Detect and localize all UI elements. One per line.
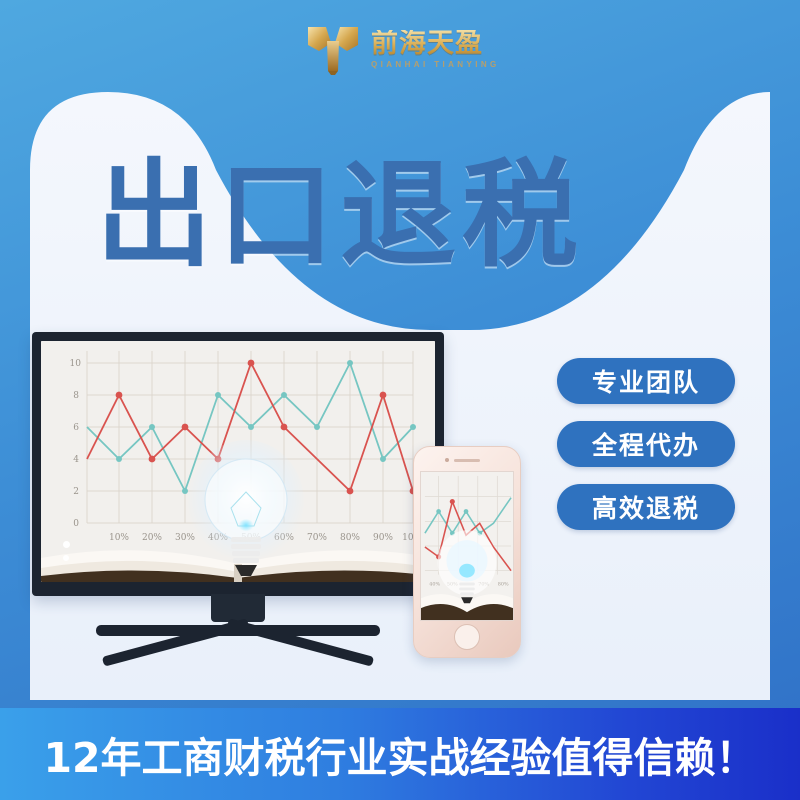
feature-pill-efficient-refund[interactable]: 高效退税	[557, 484, 735, 530]
logo-pinyin: QIANHAI TIANYING	[371, 61, 500, 69]
monitor-neck	[211, 594, 265, 622]
desktop-monitor: 0 2 4 6 8 10 10% 20% 30% 40% 50% 60%	[32, 332, 444, 642]
feature-pill-full-agency[interactable]: 全程代办	[557, 421, 735, 467]
logo-mark-icon	[305, 21, 361, 77]
lightbulb-graphic	[187, 434, 305, 582]
monitor-screen: 0 2 4 6 8 10 10% 20% 30% 40% 50% 60%	[41, 341, 435, 582]
screen-dot-lower	[63, 555, 69, 561]
svg-text:2: 2	[73, 487, 79, 497]
bottom-banner: 12年工商财税行业实战经验值得信赖！	[0, 708, 800, 800]
svg-text:10: 10	[70, 359, 82, 369]
svg-text:6: 6	[73, 423, 79, 433]
marketing-poster: 前海天盈 QIANHAI TIANYING 出口退税	[0, 0, 800, 800]
brand-logo: 前海天盈 QIANHAI TIANYING	[305, 18, 525, 80]
phone-home-button[interactable]	[454, 624, 480, 650]
page-title: 出口退税	[96, 158, 584, 274]
monitor-base-bar	[96, 625, 380, 636]
svg-text:4: 4	[73, 455, 79, 465]
phone-camera-icon	[445, 458, 449, 462]
svg-text:8: 8	[73, 391, 79, 401]
svg-text:40%: 40%	[429, 581, 440, 587]
feature-pill-professional-team[interactable]: 专业团队	[557, 358, 735, 404]
banner-slogan: 12年工商财税行业实战经验值得信赖！	[43, 724, 756, 784]
svg-text:80%: 80%	[498, 581, 509, 587]
phone-speaker	[454, 459, 480, 462]
monitor-bezel: 0 2 4 6 8 10 10% 20% 30% 40% 50% 60%	[32, 332, 444, 596]
smartphone: 40%50% 70%80%	[413, 446, 521, 658]
screen-dot-upper	[63, 541, 70, 548]
logo-chinese-name: 前海天盈	[371, 30, 500, 57]
phone-line-chart: 40%50% 70%80%	[421, 472, 513, 620]
phone-screen: 40%50% 70%80%	[420, 471, 514, 621]
feature-pill-list: 专业团队 全程代办 高效退税	[557, 358, 735, 530]
